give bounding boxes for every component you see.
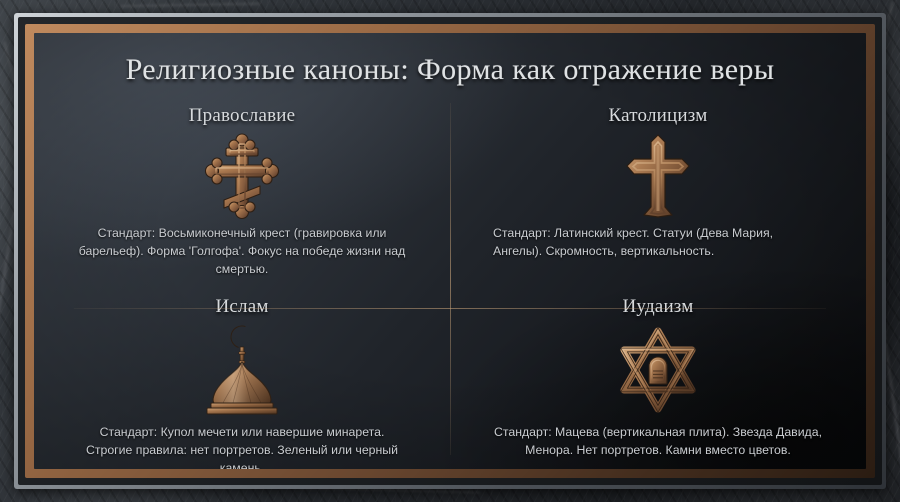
latin-cross-icon [624,133,692,219]
page-title: Религиозные каноны: Форма как отражение … [34,53,866,87]
orthodox-cross-icon [204,133,280,219]
quadrant-description-islam: Стандарт: Купол мечети или навершие мина… [77,424,407,469]
quadrant-heading-catholicism: Католицизм [609,105,708,127]
quadrant-heading-orthodoxy: Православие [189,105,296,127]
stone-vein [120,3,260,7]
quadrant-description-orthodoxy: Стандарт: Восьмиконечный крест (гравиров… [77,225,407,278]
quadrant-judaism: Иудаизм [450,288,866,469]
plaque-frame-bronze-inlay: Религиозные каноны: Форма как отражение … [25,24,875,478]
quadrant-catholicism: Католицизм [450,97,866,288]
plaque-panel: Религиозные каноны: Форма как отражение … [34,33,866,469]
quadrant-orthodoxy: Православие [34,97,450,288]
star-of-david-matzeva-icon [612,324,704,416]
quadrant-description-judaism: Стандарт: Мацева (вертикальная плита). З… [493,424,823,460]
quadrant-grid: Православие [34,97,866,469]
quadrant-islam: Ислам [34,288,450,469]
plaque-frame-outer: Религиозные каноны: Форма как отражение … [14,13,886,489]
quadrant-description-catholicism: Стандарт: Латинский крест. Статуи (Дева … [493,225,823,261]
quadrant-heading-judaism: Иудаизм [623,296,694,318]
quadrant-heading-islam: Ислам [215,296,268,318]
plaque-frame-middle: Религиозные каноны: Форма как отражение … [18,17,882,485]
mosque-dome-crescent-icon [194,324,290,416]
